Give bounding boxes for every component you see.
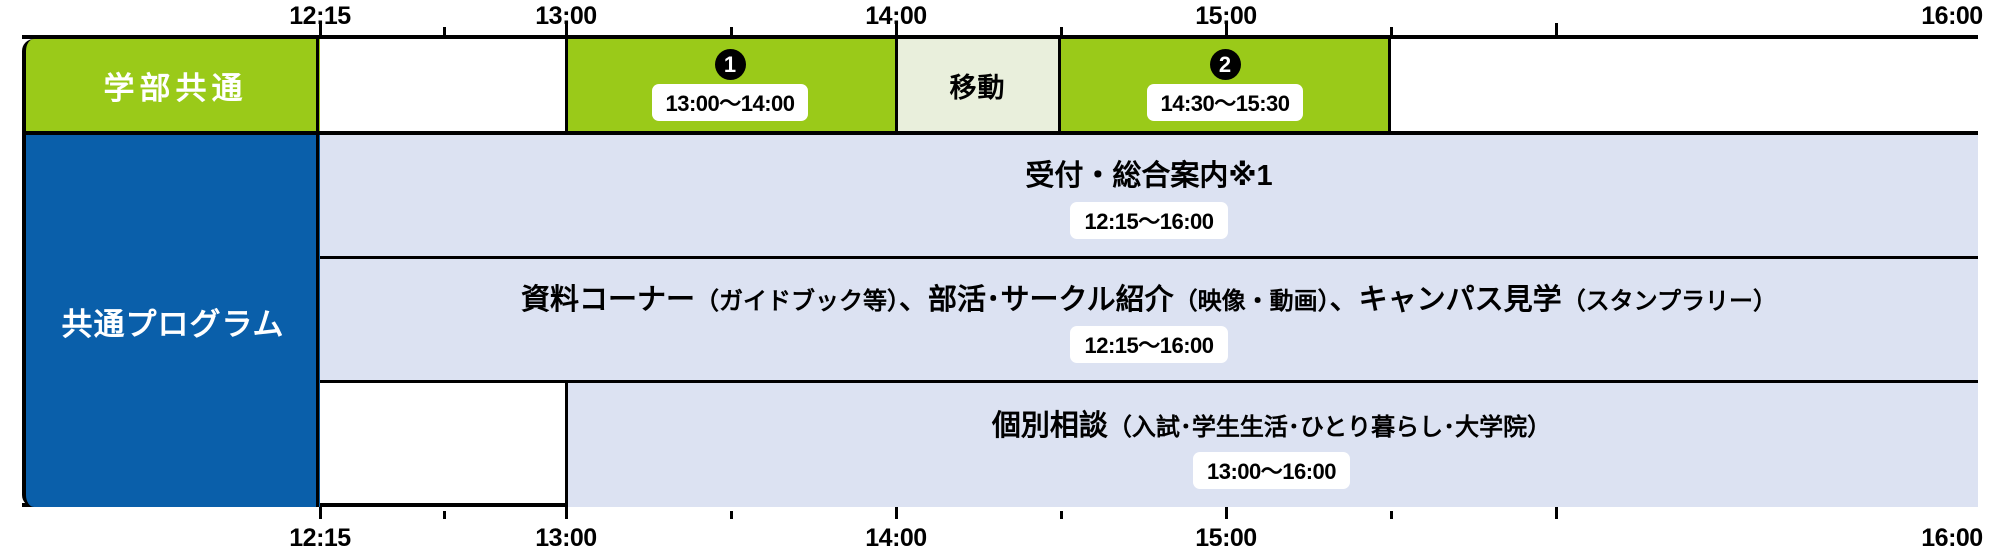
schedule-timetable: 12:15 13:00 14:00 15:00 16:00 12:15 13:0…	[0, 0, 2000, 555]
axis-bottom-label-1600: 16:00	[1921, 524, 1982, 553]
tick-bottom-1215	[319, 507, 322, 519]
program-consultation-time-pill: 13:00〜16:00	[1193, 452, 1350, 489]
tick-top-1600	[1555, 23, 1558, 35]
axis-bottom-label-1215: 12:15	[289, 524, 350, 553]
tick-bottom-1230	[443, 511, 446, 519]
tick-top-1215	[319, 23, 322, 35]
green-sep-1530	[1388, 39, 1391, 131]
tick-top-1330	[730, 27, 733, 35]
session-2-number-badge: 2	[1210, 49, 1241, 80]
green-sep-1430	[1058, 39, 1061, 131]
row-label-faculty-common: 学部共通	[22, 39, 320, 131]
tick-bottom-1300	[565, 507, 568, 519]
tick-top-1530	[1390, 27, 1393, 35]
materials-main-3: 、キャンパス見学	[1330, 284, 1562, 316]
tick-top-1500	[1225, 23, 1228, 35]
program-consultation-title: 個別相談（入試･学生生活･ひとり暮らし･大学院）	[992, 402, 1551, 444]
materials-sub-1: （ガイドブック等）	[695, 288, 899, 315]
green-sep-1300	[565, 39, 568, 131]
tick-bottom-1430	[1060, 511, 1063, 519]
tick-bottom-1530	[1390, 511, 1393, 519]
program-row-materials[interactable]: 資料コーナー（ガイドブック等）、部活･サークル紹介（映像・動画）、キャンパス見学…	[320, 259, 1978, 383]
axis-bottom-label-1300: 13:00	[535, 524, 596, 553]
materials-main-1: 資料コーナー	[521, 284, 695, 316]
tick-top-1230	[443, 27, 446, 35]
program-row-consultation[interactable]: 個別相談（入試･学生生活･ひとり暮らし･大学院） 13:00〜16:00	[565, 383, 1978, 507]
axis-top-label-1600: 16:00	[1921, 2, 1982, 31]
lavender-sep-1300	[565, 383, 568, 507]
axis-bottom-label-1500: 15:00	[1195, 524, 1256, 553]
tick-bottom-1330	[730, 511, 733, 519]
program-materials-title: 資料コーナー（ガイドブック等）、部活･サークル紹介（映像・動画）、キャンパス見学…	[521, 276, 1777, 318]
materials-sub-2: （映像・動画）	[1174, 288, 1330, 315]
block-session-1[interactable]: 1 13:00〜14:00	[565, 39, 895, 131]
green-sep-1400	[895, 39, 898, 131]
materials-main-2: 、部活･サークル紹介	[899, 284, 1174, 316]
session-2-time-pill: 14:30〜15:30	[1147, 84, 1302, 121]
program-materials-time-pill: 12:15〜16:00	[1070, 326, 1227, 363]
session-1-time-pill: 13:00〜14:00	[652, 84, 807, 121]
session-1-number-badge: 1	[715, 49, 746, 80]
row-faculty-common: 学部共通 1 13:00〜14:00 移動 2 14:30〜15:30	[22, 39, 1978, 135]
blue-sep-category	[316, 135, 319, 507]
program-reception-time-pill: 12:15〜16:00	[1070, 202, 1227, 239]
block-session-2[interactable]: 2 14:30〜15:30	[1060, 39, 1390, 131]
consultation-sub: （入試･学生生活･ひとり暮らし･大学院）	[1108, 414, 1551, 441]
block-transfer[interactable]: 移動	[895, 39, 1060, 131]
row-common-program: 共通プログラム 受付・総合案内※1 12:15〜16:00 資料コーナー（ガイド…	[22, 135, 1978, 507]
materials-sub-3: （スタンプラリー）	[1562, 288, 1777, 315]
program-reception-title: 受付・総合案内※1	[1025, 152, 1272, 194]
green-sep-category	[316, 39, 319, 131]
row-label-common-program: 共通プログラム	[22, 135, 320, 507]
tick-top-1430	[1060, 27, 1063, 35]
tick-bottom-1500	[1225, 507, 1228, 519]
tick-bottom-1600	[1555, 507, 1558, 519]
row-label-faculty-common-text: 学部共通	[99, 63, 248, 108]
tick-top-1400	[895, 23, 898, 35]
program-row-reception[interactable]: 受付・総合案内※1 12:15〜16:00	[320, 135, 1978, 259]
tick-bottom-1400	[895, 507, 898, 519]
axis-bottom-label-1400: 14:00	[865, 524, 926, 553]
timetable-grid: 学部共通 1 13:00〜14:00 移動 2 14:30〜15:30	[22, 35, 1978, 507]
row-label-common-program-text: 共通プログラム	[61, 299, 284, 344]
consultation-main: 個別相談	[992, 410, 1108, 442]
transfer-label: 移動	[950, 66, 1006, 105]
tick-top-1300	[565, 23, 568, 35]
